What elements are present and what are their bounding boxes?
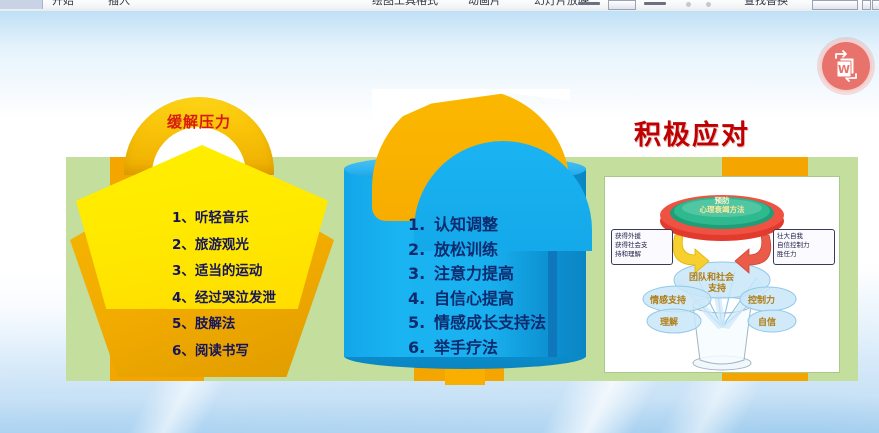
list-item: 3、适当的运动 — [172, 258, 392, 285]
list-item: 3.注意力提高 — [408, 262, 644, 287]
list-item-label: 自信心提高 — [434, 289, 514, 308]
list-item-label: 注意力提高 — [434, 264, 514, 283]
right-panel-title: 积极应对 — [634, 113, 750, 152]
list-item-number: 1. — [408, 213, 434, 238]
middle-blue-cylinder-group[interactable]: 1.认知调整 2.放松训练 3.注意力提高 4.自信心提高 5.情感成长支持法 … — [332, 89, 598, 385]
middle-panel-list: 1.认知调整 2.放松训练 3.注意力提高 4.自信心提高 5.情感成长支持法 … — [368, 213, 644, 360]
ribbon-tab-find-replace[interactable]: 查找替换 — [744, 0, 788, 8]
list-item: 1、听轻音乐 — [172, 205, 392, 232]
ribbon-tab-drawing-format[interactable]: 绘图工具格式 — [372, 0, 438, 8]
right-callout-line1: 壮大自我 — [777, 232, 803, 241]
bubble-label-control: 控制力 — [748, 293, 775, 306]
list-item-label: 放松训练 — [434, 240, 498, 259]
list-item-number: 6. — [408, 336, 434, 361]
word-document-rotate-icon[interactable]: W — [820, 40, 872, 92]
left-panel-list: 1、听轻音乐 2、旅游观光 3、适当的运动 4、经过哭泣发泄 5、肢解法 6、阅… — [132, 205, 392, 364]
list-item: 6.举手疗法 — [408, 336, 644, 361]
bubble-label-team-social-2: 支持 — [708, 281, 726, 294]
list-item: 4、经过哭泣发泄 — [172, 285, 392, 312]
list-item-label: 情感成长支持法 — [434, 313, 546, 332]
list-item: 2.放松训练 — [408, 238, 644, 263]
ribbon-dropdown[interactable] — [812, 0, 858, 10]
bubble-label-confidence: 自信 — [758, 315, 776, 328]
bubble-label-understanding: 理解 — [660, 315, 678, 328]
list-item: 2、旅游观光 — [172, 232, 392, 259]
ribbon-small-box-2[interactable] — [872, 0, 879, 10]
list-item-label: 举手疗法 — [434, 338, 498, 357]
left-panel-title: 缓解压力 — [124, 111, 274, 132]
powerpoint-window: 开始 插入 绘图工具格式 动画片 幻灯片放映 查找替换 缓解压力 1、听轻音乐 — [0, 0, 879, 433]
ribbon-tab-insert[interactable]: 插入 — [108, 0, 130, 8]
ribbon-align-icon-3[interactable] — [644, 2, 666, 5]
list-item-number: 5. — [408, 311, 434, 336]
ribbon-dot-icon-2[interactable] — [706, 2, 711, 7]
ribbon-align-icon-2[interactable] — [608, 0, 636, 10]
list-item-number: 2. — [408, 238, 434, 263]
list-item: 5、肢解法 — [172, 311, 392, 338]
list-item: 4.自信心提高 — [408, 287, 644, 312]
bubble-label-emotional-support: 情感支持 — [650, 293, 686, 306]
ribbon-tab-animation[interactable]: 动画片 — [468, 0, 501, 8]
list-item-number: 3. — [408, 262, 434, 287]
ribbon-selected-tab[interactable] — [0, 0, 43, 9]
ribbon-small-box-1[interactable] — [862, 0, 871, 10]
ribbon-dot-icon-1[interactable] — [686, 2, 691, 7]
list-item-label: 认知调整 — [434, 215, 498, 234]
slide-canvas[interactable]: 缓解压力 1、听轻音乐 2、旅游观光 3、适当的运动 4、经过哭泣发泄 5、肢解… — [0, 11, 879, 433]
left-yellow-shape-group[interactable]: 缓解压力 1、听轻音乐 2、旅游观光 3、适当的运动 4、经过哭泣发泄 5、肢解… — [64, 97, 340, 377]
list-item: 6、阅读书写 — [172, 338, 392, 365]
list-item-number: 4. — [408, 287, 434, 312]
right-callout-line2: 自信控制力 — [777, 241, 810, 250]
right-callout-line3: 胜任力 — [777, 250, 797, 259]
list-item: 1.认知调整 — [408, 213, 644, 238]
ribbon-align-icon-1[interactable] — [578, 2, 600, 5]
ribbon-tab-start[interactable]: 开始 — [52, 0, 74, 8]
word-badge-glyph: W — [822, 42, 870, 90]
list-item: 5.情感成长支持法 — [408, 311, 644, 336]
svg-text:W: W — [838, 63, 850, 76]
